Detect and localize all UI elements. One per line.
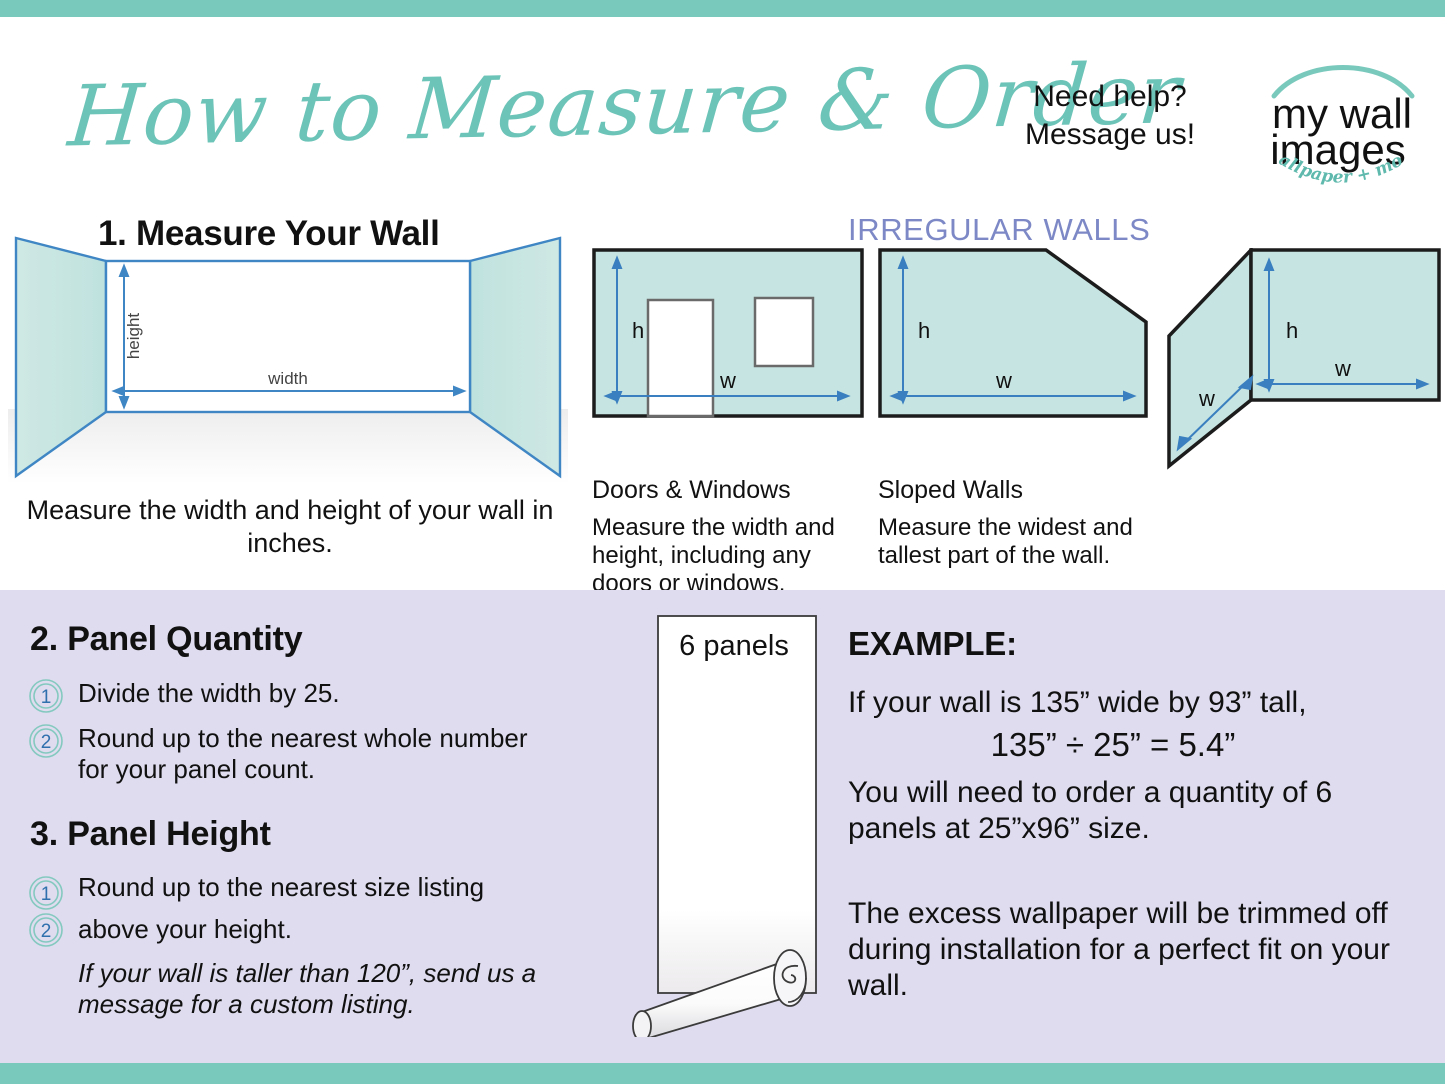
step3-line-2: above your height.: [78, 914, 558, 945]
svg-text:2: 2: [41, 921, 52, 942]
card-sloped-title: Sloped Walls: [878, 476, 1023, 505]
svg-text:h: h: [918, 318, 930, 343]
example-line-1: If your wall is 135” wide by 93” tall,: [848, 685, 1408, 721]
door-shape: [648, 300, 713, 416]
help-line-1: Need help?: [1000, 78, 1220, 116]
example-equation: 135” ÷ 25” = 5.4”: [848, 726, 1378, 764]
svg-text:w: w: [995, 368, 1012, 393]
room-diagram: height width: [8, 224, 568, 484]
wallpaper-roll-icon: [628, 612, 848, 1037]
sloped-wall-figure: h w: [878, 248, 1150, 423]
irregular-walls-heading: IRREGULAR WALLS: [848, 212, 1150, 248]
step3-heading: 3. Panel Height: [30, 815, 271, 854]
help-line-2: Message us!: [1000, 116, 1220, 154]
multiple-walls-figure: h w w: [1165, 248, 1443, 483]
width-label: width: [267, 369, 308, 388]
brand-logo: my wall images wallpaper + more: [1258, 52, 1428, 187]
step2-bullet-1-text: Divide the width by 25.: [78, 678, 548, 709]
example-line-2: You will need to order a quantity of 6 p…: [848, 775, 1388, 847]
card-sloped-text: Measure the widest and tallest part of t…: [878, 514, 1146, 570]
roll-panel-count-label: 6 panels: [628, 630, 840, 663]
example-line-3: The excess wallpaper will be trimmed off…: [848, 896, 1393, 1004]
example-heading: EXAMPLE:: [848, 625, 1017, 663]
svg-text:w: w: [1198, 386, 1215, 411]
bullet-4-icon: 2: [28, 912, 64, 948]
bullet-2-icon: 2: [28, 723, 64, 759]
svg-text:1: 1: [41, 884, 52, 905]
bottom-banner: [0, 1063, 1445, 1084]
svg-text:h: h: [632, 318, 644, 343]
infographic-page: How to Measure & Order Need help? Messag…: [0, 0, 1445, 1084]
step3-note: If your wall is taller than 120”, send u…: [78, 958, 548, 1020]
back-wall: [106, 261, 470, 412]
card-doors-text: Measure the width and height, including …: [592, 514, 864, 598]
top-banner: [0, 0, 1445, 17]
card-doors-title: Doors & Windows: [592, 476, 791, 505]
need-help-text: Need help? Message us!: [1000, 78, 1220, 154]
step2-bullet-2-text: Round up to the nearest whole number for…: [78, 723, 548, 785]
step3-line-1: Round up to the nearest size listing: [78, 872, 558, 903]
step2-heading: 2. Panel Quantity: [30, 620, 302, 659]
svg-text:1: 1: [41, 687, 52, 708]
height-label: height: [124, 313, 143, 360]
svg-text:h: h: [1286, 318, 1298, 343]
svg-text:w: w: [1334, 356, 1351, 381]
bullet-3-icon: 1: [28, 875, 64, 911]
svg-text:w: w: [719, 368, 736, 393]
step1-caption: Measure the width and height of your wal…: [20, 494, 560, 560]
angled-wall: [1169, 250, 1251, 466]
bullet-1-icon: 1: [28, 678, 64, 714]
doors-windows-figure: h w: [592, 248, 864, 423]
svg-text:2: 2: [41, 732, 52, 753]
page-title: How to Measure & Order: [64, 32, 987, 181]
window-shape: [755, 298, 813, 366]
